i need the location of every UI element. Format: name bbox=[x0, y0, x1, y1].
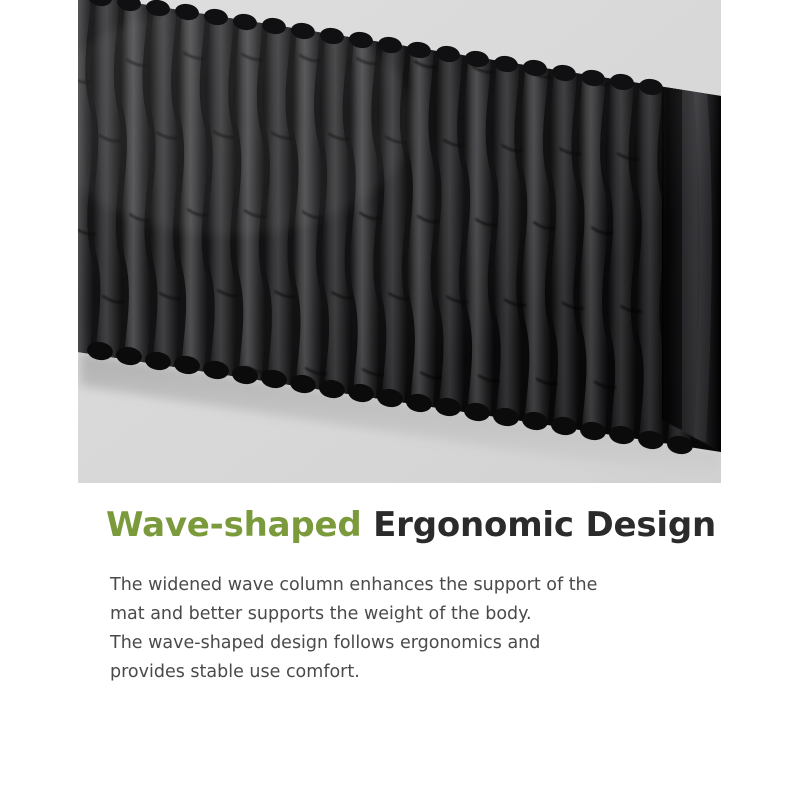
description-line: provides stable use comfort. bbox=[110, 658, 670, 687]
headline-accent-text: Wave-shaped bbox=[106, 505, 362, 545]
description-line: mat and better supports the weight of th… bbox=[110, 600, 670, 629]
description-line: The wave-shaped design follows ergonomic… bbox=[110, 629, 670, 658]
feature-copy-block: Wave-shaped Ergonomic Design The widened… bbox=[0, 483, 800, 800]
feature-description: The widened wave column enhances the sup… bbox=[110, 571, 670, 687]
headline-plain-text: Ergonomic Design bbox=[362, 505, 716, 545]
description-line: The widened wave column enhances the sup… bbox=[110, 571, 670, 600]
page-title: Wave-shaped Ergonomic Design bbox=[106, 506, 716, 544]
sleeping-pad-illustration bbox=[78, 0, 721, 483]
product-photo-panel bbox=[78, 0, 721, 483]
